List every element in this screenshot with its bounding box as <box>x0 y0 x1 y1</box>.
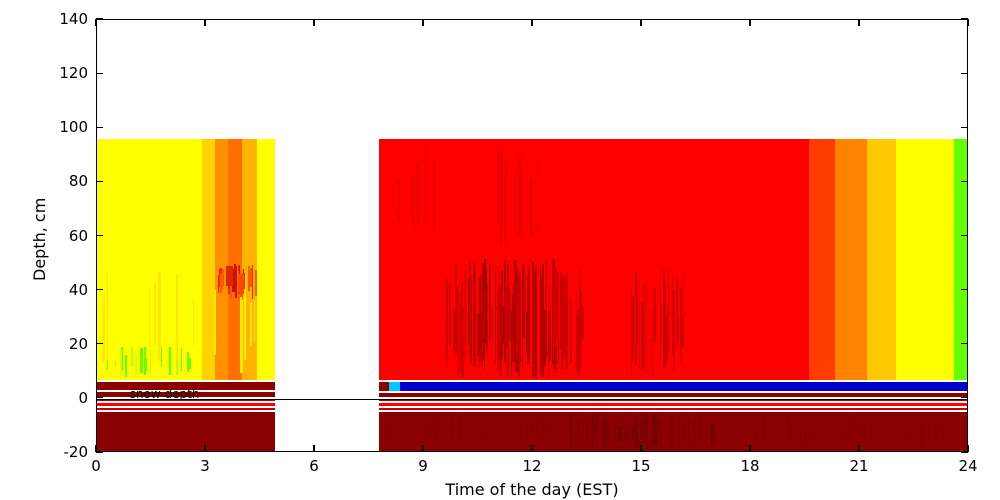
heatmap-streak <box>550 304 551 338</box>
y-axis-tick <box>96 73 103 74</box>
y-axis-tick <box>96 343 103 344</box>
heatmap-streak <box>634 413 636 440</box>
y-axis-tick <box>96 181 103 182</box>
heatmap-streak <box>698 419 701 437</box>
heatmap-streak <box>459 415 461 440</box>
x-axis-tick-top <box>640 19 641 26</box>
heatmap-column <box>835 139 868 380</box>
heatmap-streak <box>570 431 572 439</box>
x-axis-tick-top <box>313 19 314 26</box>
heatmap-streak <box>115 360 116 366</box>
heatmap-streak <box>448 413 450 435</box>
heatmap-streak <box>668 269 669 352</box>
heatmap-streak <box>451 421 453 434</box>
heatmap-streak <box>434 428 436 444</box>
soil-layer-c2 <box>379 408 968 411</box>
heatmap-streak <box>680 287 683 363</box>
x-axis-tick-top <box>422 19 423 26</box>
y-axis-tick-label: 120 <box>38 64 88 82</box>
heatmap-streak <box>545 284 546 345</box>
heatmap-streak <box>529 422 530 440</box>
heatmap-streak <box>176 274 178 359</box>
heatmap-streak <box>501 146 502 246</box>
heatmap-streak <box>592 424 595 440</box>
heatmap-streak <box>645 416 647 442</box>
y-axis-tick <box>96 18 103 19</box>
heatmap-streak <box>456 292 458 339</box>
heatmap-streak <box>412 175 414 231</box>
heatmap-column <box>379 139 810 380</box>
heatmap-streak <box>629 416 630 449</box>
heatmap-streak <box>398 179 399 220</box>
y-axis-tick <box>96 127 103 128</box>
y-axis-tick-right <box>961 73 968 74</box>
heatmap-streak <box>169 347 171 375</box>
heatmap-streak <box>920 425 922 450</box>
y-axis-tick-right <box>961 451 968 452</box>
x-axis-tick <box>640 445 641 452</box>
heatmap-streak <box>250 302 252 346</box>
heatmap-streak <box>822 420 824 450</box>
heatmap-streak <box>146 359 147 371</box>
heatmap-streak <box>218 275 219 293</box>
y-axis-tick-label: 100 <box>38 118 88 136</box>
y-axis-tick-right <box>961 127 968 128</box>
heatmap-streak <box>614 423 617 445</box>
x-axis-tick-label: 21 <box>849 457 868 475</box>
heatmap-streak <box>131 346 132 367</box>
heatmap-streak <box>140 348 143 373</box>
heatmap-streak <box>695 414 697 438</box>
heatmap-streak <box>652 413 655 447</box>
heatmap-streak <box>483 294 485 339</box>
y-axis-tick-label: 0 <box>38 389 88 407</box>
heatmap-streak <box>846 432 848 438</box>
heatmap-streak <box>683 421 685 439</box>
heatmap-streak <box>642 422 644 438</box>
y-axis-tick-right <box>961 289 968 290</box>
heatmap-streak <box>432 423 434 439</box>
heatmap-streak <box>791 427 792 440</box>
heatmap-streak <box>711 424 713 444</box>
snow-band-cyan <box>389 382 400 391</box>
heatmap-streak <box>843 424 844 442</box>
heatmap-column <box>867 139 896 380</box>
heatmap-column <box>257 139 275 380</box>
heatmap-streak <box>654 288 656 342</box>
heatmap-streak <box>670 420 672 446</box>
heatmap-streak <box>854 415 855 440</box>
soil-layer-b <box>97 403 275 406</box>
heatmap-streak <box>502 142 503 228</box>
heatmap-streak <box>582 305 584 340</box>
zero-depth-line <box>97 399 967 400</box>
heatmap-streak <box>449 285 450 345</box>
heatmap-streak <box>226 266 233 286</box>
soil-layer-b2 <box>379 403 968 406</box>
heatmap-streak <box>918 429 921 444</box>
heatmap-streak <box>658 419 659 444</box>
heatmap-streak <box>587 427 588 440</box>
heatmap-streak <box>541 277 543 373</box>
heatmap-streak <box>533 271 535 363</box>
heatmap-streak <box>535 285 536 342</box>
heatmap-streak <box>816 422 817 446</box>
heatmap-streak <box>389 426 390 438</box>
heatmap-streak <box>462 282 463 362</box>
heatmap-streak <box>416 175 418 206</box>
heatmap-streak <box>506 154 507 224</box>
y-axis-tick-right <box>961 18 968 19</box>
heatmap-streak <box>523 264 525 338</box>
heatmap-streak <box>673 290 675 372</box>
heatmap-streak <box>756 431 758 447</box>
x-axis-tick <box>204 445 205 452</box>
heatmap-streak <box>570 302 572 363</box>
heatmap-streak <box>565 273 567 369</box>
heatmap-column <box>215 139 228 380</box>
heatmap-streak <box>596 413 597 443</box>
heatmap-streak <box>518 297 520 378</box>
y-axis-tick <box>96 235 103 236</box>
x-axis-tick-label: 18 <box>740 457 759 475</box>
heatmap-streak <box>532 183 533 245</box>
heatmap-streak <box>814 429 815 438</box>
heatmap-streak <box>473 267 476 367</box>
y-axis-title: Depth, cm <box>30 197 49 280</box>
heatmap-streak <box>539 155 540 232</box>
heatmap-streak <box>154 283 156 346</box>
x-axis-tick-label: 0 <box>91 457 101 475</box>
y-axis-tick-label: 140 <box>38 10 88 28</box>
y-axis-tick <box>96 289 103 290</box>
heatmap-streak <box>514 173 516 233</box>
heatmap-streak <box>788 417 790 441</box>
heatmap-streak <box>102 294 103 362</box>
heatmap-streak <box>424 143 425 224</box>
soil-layer-c <box>97 408 275 411</box>
heatmap-streak <box>427 418 429 440</box>
heatmap-streak <box>581 290 582 366</box>
heatmap-streak <box>520 185 522 232</box>
x-axis-tick-label: 3 <box>200 457 210 475</box>
x-axis-tick-label: 24 <box>958 457 977 475</box>
heatmap-streak <box>497 145 499 215</box>
heatmap-streak <box>585 420 587 448</box>
heatmap-streak <box>255 270 257 297</box>
heatmap-streak <box>484 425 486 440</box>
heatmap-streak <box>470 420 471 442</box>
x-axis-tick <box>313 445 314 452</box>
heatmap-streak <box>705 418 706 446</box>
heatmap-streak <box>392 183 395 203</box>
y-axis-tick-right <box>961 235 968 236</box>
heatmap-streak <box>672 276 674 356</box>
heatmap-streak <box>660 304 662 343</box>
heatmap-streak <box>529 307 530 363</box>
heatmap-streak <box>149 286 150 347</box>
heatmap-streak <box>553 294 555 346</box>
heatmap-streak <box>479 302 480 369</box>
heatmap-streak <box>770 430 771 448</box>
heatmap-streak <box>631 287 632 376</box>
heatmap-streak <box>454 424 456 436</box>
heatmap-streak <box>873 427 874 440</box>
x-axis-tick-top <box>531 19 532 26</box>
heatmap-streak <box>763 417 765 443</box>
heatmap-streak <box>234 264 235 292</box>
heatmap-streak <box>911 428 912 442</box>
heatmap-streak <box>624 426 627 438</box>
heatmap-streak <box>150 350 151 374</box>
x-axis-tick <box>749 445 750 452</box>
plot-area: snow depth <box>96 19 968 452</box>
heatmap-column <box>809 139 834 380</box>
soil-layer-d <box>97 412 275 451</box>
heatmap-streak <box>536 418 537 440</box>
heatmap-streak <box>683 275 684 343</box>
snow-band-blue-lower <box>379 393 968 397</box>
heatmap-streak <box>120 350 122 376</box>
snow-depth-annotation: snow depth <box>130 387 200 401</box>
x-axis-tick-top <box>967 19 968 26</box>
heatmap-streak <box>660 420 661 450</box>
heatmap-streak <box>646 283 647 377</box>
heatmap-streak <box>595 420 596 438</box>
y-axis-tick <box>96 451 103 452</box>
heatmap-streak <box>439 420 440 442</box>
heatmap-streak <box>863 423 865 441</box>
x-axis-tick-label: 15 <box>631 457 650 475</box>
heatmap-streak <box>505 282 506 342</box>
heatmap-streak <box>557 273 559 338</box>
heatmap-streak <box>635 272 638 365</box>
heatmap-streak <box>248 266 250 291</box>
heatmap-data-layer <box>97 20 967 451</box>
heatmap-streak <box>459 291 460 374</box>
heatmap-streak <box>515 423 516 445</box>
heatmap-streak <box>639 300 640 369</box>
heatmap-streak <box>189 358 192 368</box>
heatmap-streak <box>606 420 608 444</box>
heatmap-streak <box>550 427 552 435</box>
y-axis-tick-right <box>961 397 968 398</box>
heatmap-streak <box>693 422 694 447</box>
heatmap-streak <box>643 284 645 367</box>
heatmap-streak <box>531 424 533 434</box>
heatmap-streak <box>825 420 827 450</box>
y-axis-tick-right <box>961 343 968 344</box>
x-axis-tick <box>531 445 532 452</box>
heatmap-streak <box>621 421 623 448</box>
heatmap-streak <box>609 415 611 441</box>
heatmap-streak <box>214 292 215 340</box>
x-axis-tick-label: 6 <box>309 457 319 475</box>
heatmap-streak <box>158 272 161 361</box>
heatmap-streak <box>810 431 811 443</box>
heatmap-streak <box>433 160 435 233</box>
y-axis-tick-label: 20 <box>38 335 88 353</box>
x-axis-tick <box>422 445 423 452</box>
heatmap-streak <box>520 424 522 444</box>
heatmap-streak <box>804 429 806 445</box>
y-axis-tick <box>96 397 103 398</box>
x-axis-tick-top <box>749 19 750 26</box>
heatmap-streak <box>677 317 679 340</box>
heatmap-streak <box>478 423 480 440</box>
heatmap-streak <box>252 265 253 297</box>
heatmap-streak <box>500 290 502 341</box>
heatmap-streak <box>489 264 491 339</box>
x-axis-tick-top <box>95 19 96 26</box>
heatmap-streak <box>656 425 657 441</box>
heatmap-streak <box>254 300 255 342</box>
heatmap-streak <box>506 416 508 433</box>
heatmap-streak <box>396 147 397 203</box>
heatmap-streak <box>578 309 580 367</box>
heatmap-streak <box>935 418 937 439</box>
heatmap-streak <box>107 270 108 360</box>
y-axis-tick-label: -20 <box>38 443 88 461</box>
heatmap-streak <box>444 413 445 440</box>
heatmap-streak <box>492 308 494 344</box>
heatmap-column <box>896 139 954 380</box>
y-axis-tick-label: 80 <box>38 172 88 190</box>
heatmap-streak <box>417 413 419 444</box>
heatmap-streak <box>193 300 194 346</box>
x-axis-tick <box>858 445 859 452</box>
heatmap-streak <box>469 282 471 353</box>
heatmap-streak <box>464 270 465 358</box>
heatmap-streak <box>103 314 105 363</box>
heatmap-streak <box>239 274 244 294</box>
heatmap-streak <box>426 154 427 219</box>
heatmap-streak <box>515 262 516 359</box>
snow-band-blue <box>400 382 968 391</box>
heatmap-streak <box>507 279 508 354</box>
heatmap-streak <box>222 278 223 289</box>
x-axis-title: Time of the day (EST) <box>445 480 618 499</box>
x-axis-tick-label: 9 <box>418 457 428 475</box>
heatmap-streak <box>898 429 901 447</box>
heatmap-streak <box>949 419 951 442</box>
heatmap-streak <box>637 281 638 344</box>
y-axis-tick-right <box>961 181 968 182</box>
heatmap-streak <box>161 347 162 365</box>
x-axis-tick-label: 12 <box>522 457 541 475</box>
heatmap-streak <box>561 310 562 357</box>
heatmap-streak <box>536 143 537 236</box>
heatmap-streak <box>392 414 394 437</box>
heatmap-streak <box>578 419 580 447</box>
heatmap-streak <box>688 422 690 439</box>
heatmap-streak <box>652 309 653 375</box>
y-axis-tick-label: 40 <box>38 281 88 299</box>
heatmap-streak <box>522 264 523 367</box>
x-axis-tick-top <box>858 19 859 26</box>
heatmap-streak <box>125 355 127 377</box>
temperature-profile-figure: Temperature Profile Nov 7, 2019 (2019311… <box>0 0 1000 500</box>
heatmap-streak <box>582 421 583 447</box>
heatmap-streak <box>397 424 399 434</box>
heatmap-streak <box>450 273 451 348</box>
heatmap-streak <box>527 159 528 231</box>
heatmap-streak <box>474 416 477 436</box>
heatmap-streak <box>181 348 183 370</box>
heatmap-streak <box>493 416 495 435</box>
heatmap-streak <box>446 279 448 361</box>
heatmap-streak <box>168 349 169 368</box>
heatmap-streak <box>819 432 821 451</box>
heatmap-streak <box>135 356 137 374</box>
heatmap-streak <box>840 422 842 451</box>
snow-band-transition <box>379 382 390 391</box>
x-axis-tick-top <box>204 19 205 26</box>
heatmap-streak <box>679 420 680 447</box>
